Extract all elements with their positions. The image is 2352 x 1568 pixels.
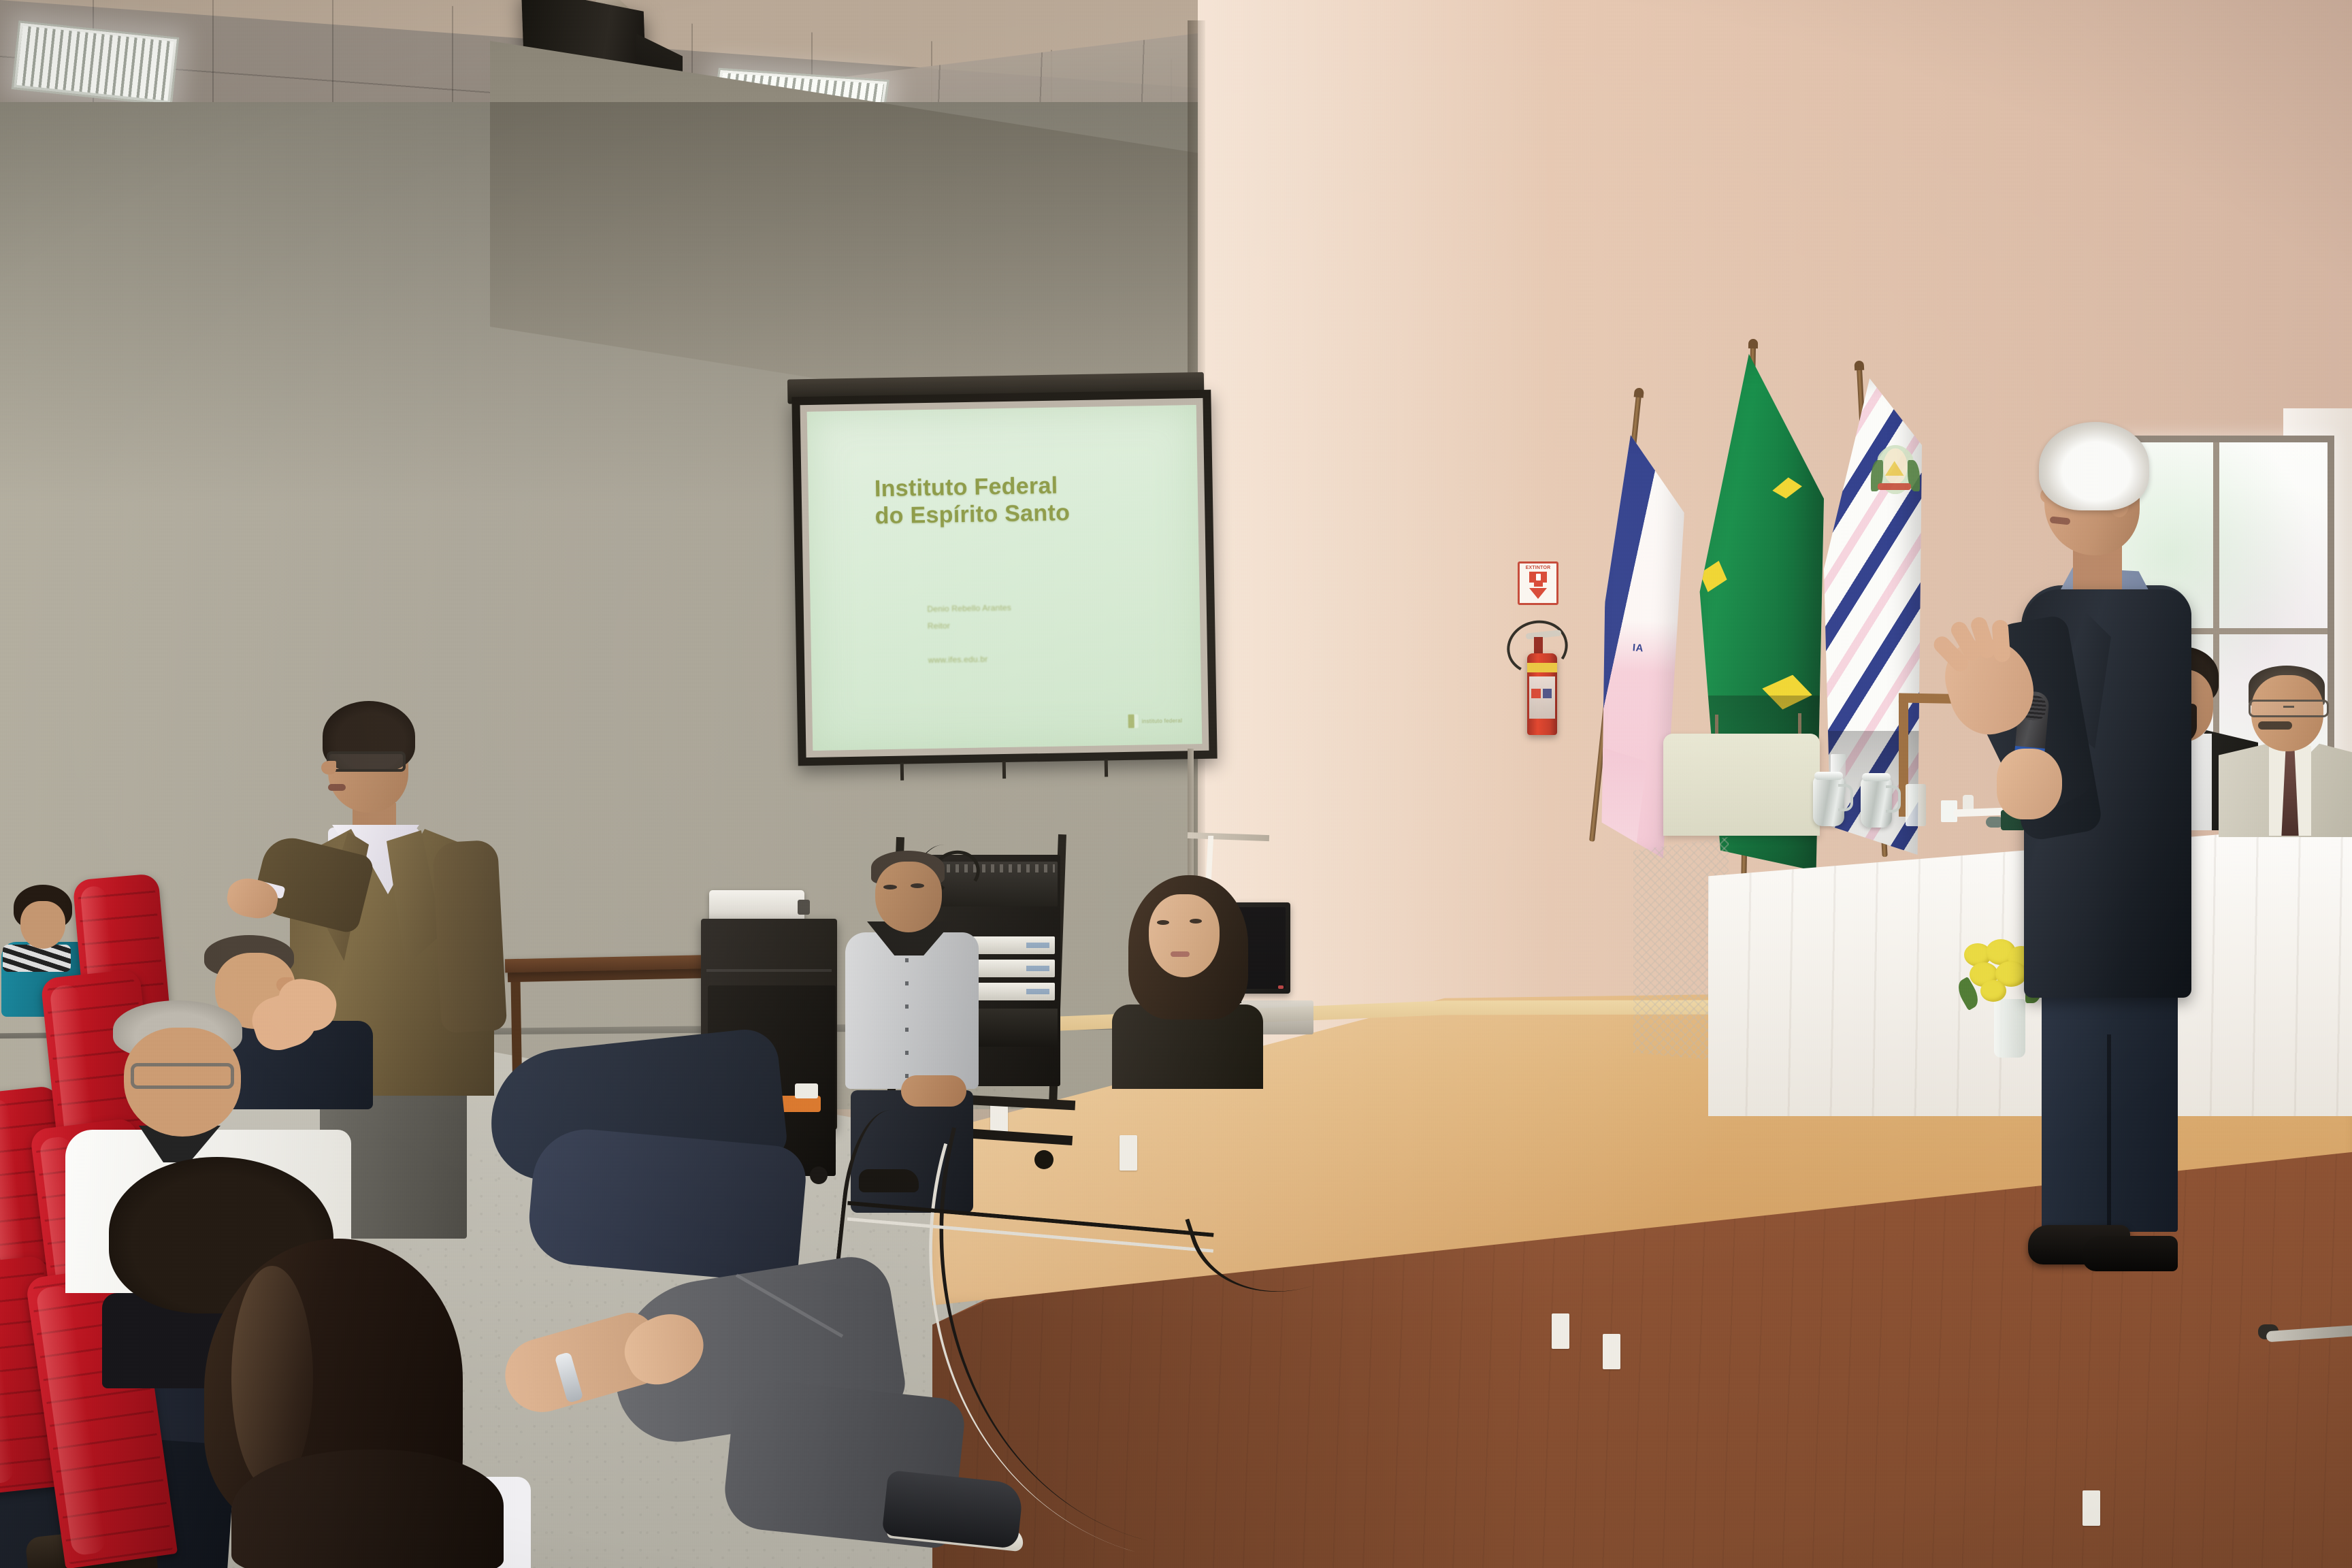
slide-title: Instituto Federal do Espírito Santo (875, 470, 1179, 529)
chair-backrest (1663, 734, 1820, 836)
screen-frame: Instituto Federal do Espírito Santo Deni… (791, 390, 1217, 766)
water-pitcher (1813, 776, 1844, 826)
slide-speaker-name: Denio Rebello Arantes (927, 603, 1011, 614)
caster-wheel (810, 1166, 828, 1184)
slide-title-line2: do Espírito Santo (875, 497, 1179, 529)
wall-outlet (1120, 1135, 1137, 1171)
eyeglasses-icon (131, 1063, 234, 1089)
fire-extinguisher-icon (1527, 653, 1557, 735)
audience-arm (504, 1313, 708, 1463)
coat-of-arms-icon (1874, 445, 1916, 498)
panelist-right (2234, 666, 2352, 836)
logo-wordmark: instituto federal (1142, 717, 1183, 724)
slide-surface: Instituto Federal do Espírito Santo Deni… (807, 405, 1203, 751)
face (1149, 894, 1220, 977)
extinguisher-sign: EXTINTOR (1518, 561, 1558, 605)
ifes-logo-icon: instituto federal (1128, 714, 1183, 728)
long-dark-hair (231, 1450, 504, 1568)
projection-screen: Instituto Federal do Espírito Santo Deni… (791, 390, 1217, 766)
wall-outlet (1603, 1334, 1620, 1369)
hands (901, 1075, 966, 1107)
drinking-glass (1906, 784, 1926, 826)
clapping-hands (253, 980, 348, 1062)
slide-speaker-role: Reitor (928, 621, 950, 632)
audience-member-foreground (231, 1450, 524, 1568)
eyeglasses-icon (2249, 700, 2329, 717)
white-hair (2039, 422, 2149, 510)
projector-lens-icon (798, 900, 810, 915)
auditorium-photo: Instituto Federal do Espírito Santo Deni… (0, 0, 2352, 1568)
extinguisher-sign-label: EXTINTOR (1526, 566, 1551, 570)
down-arrow-icon (1529, 588, 1547, 599)
av-assistant (1111, 875, 1267, 1079)
screen-mat: Instituto Federal do Espírito Santo Deni… (800, 398, 1209, 757)
wall-outlet (1552, 1313, 1569, 1349)
shoe (2082, 1236, 2178, 1271)
wall-outlet (2082, 1490, 2100, 1526)
speaker-on-stage (1940, 422, 2198, 1300)
power-led-icon (1278, 985, 1284, 989)
slide-url: www.ifes.edu.br (928, 654, 988, 665)
water-pitcher (1861, 777, 1892, 828)
flag-label: IA (1632, 642, 1644, 654)
eyeglasses-icon (327, 751, 406, 772)
grey-shirt (845, 932, 979, 1089)
face (875, 862, 942, 932)
